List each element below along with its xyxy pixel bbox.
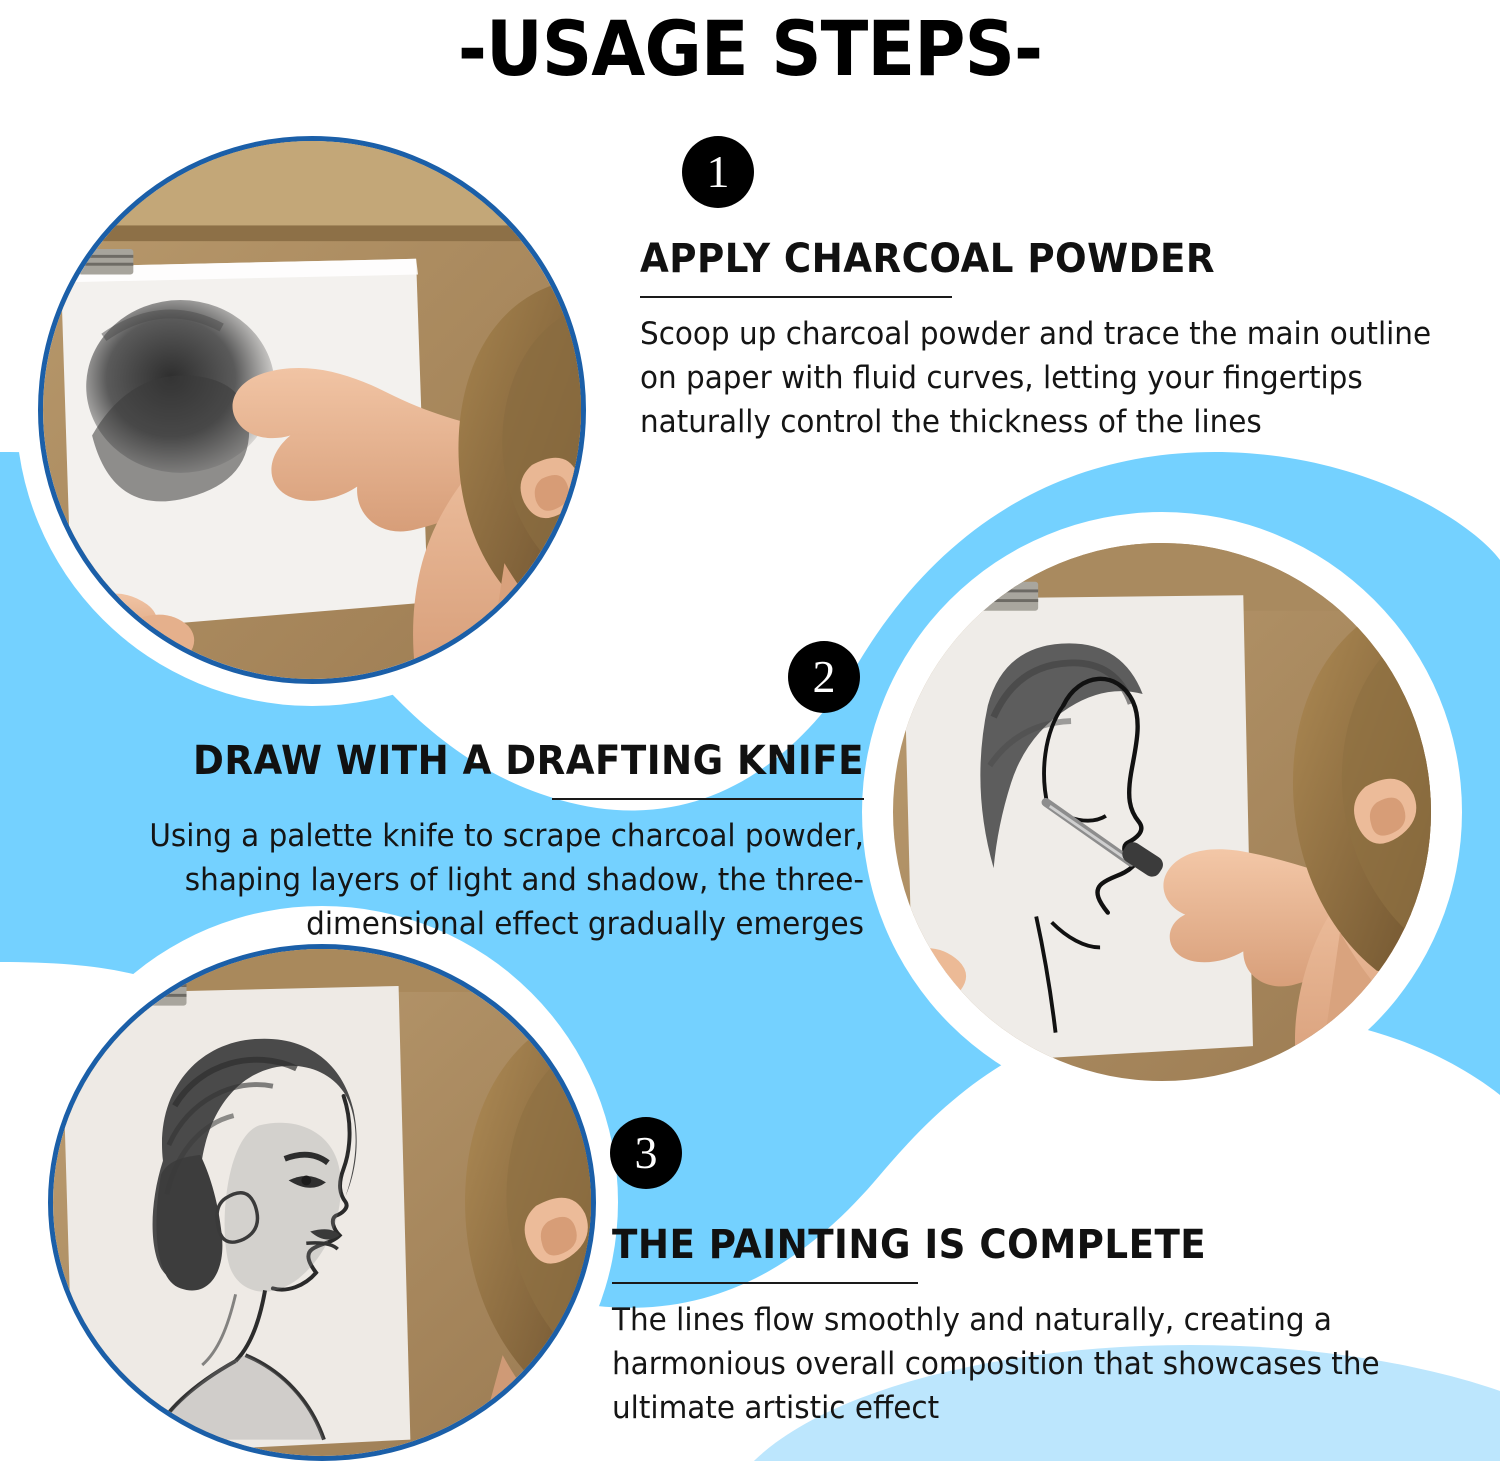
step-1-block: APPLY CHARCOAL POWDER Scoop up charcoal … [640, 236, 1492, 444]
step-3-divider [612, 1282, 918, 1284]
step-2-number-badge: 2 [788, 641, 860, 713]
step-3-block: THE PAINTING IS COMPLETE The lines flow … [612, 1222, 1500, 1430]
step-3-photo [48, 944, 596, 1461]
step-3-number-badge: 3 [610, 1117, 682, 1189]
step-3-heading: THE PAINTING IS COMPLETE [612, 1222, 1438, 1268]
step-3-body: The lines flow smoothly and naturally, c… [612, 1298, 1456, 1430]
step-2-photo [884, 534, 1440, 1090]
step-2-block: DRAW WITH A DRAFTING KNIFE Using a palet… [8, 738, 864, 946]
page-title: -USAGE STEPS- [60, 4, 1440, 93]
step-1-heading: APPLY CHARCOAL POWDER [640, 236, 1432, 282]
step-1-body: Scoop up charcoal powder and trace the m… [640, 312, 1449, 444]
step-2-heading: DRAW WITH A DRAFTING KNIFE [68, 738, 864, 784]
step-1-divider [640, 296, 952, 298]
step-2-divider [552, 798, 864, 800]
step-1-number-badge: 1 [682, 136, 754, 208]
step-2-body: Using a palette knife to scrape charcoal… [51, 814, 864, 946]
infographic-canvas: -USAGE STEPS- [0, 0, 1500, 1461]
step-1-photo [38, 136, 586, 684]
